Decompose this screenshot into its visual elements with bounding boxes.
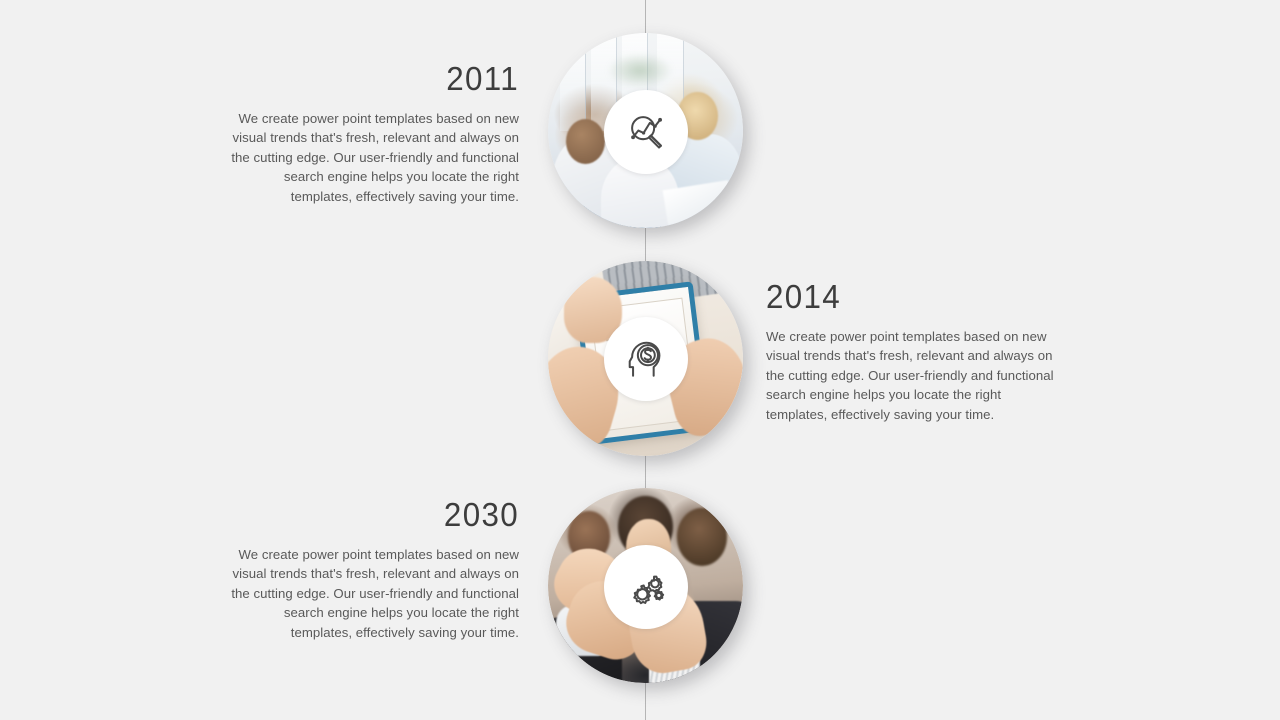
description-2011: We create power point templates based on… xyxy=(224,109,519,206)
gears-icon xyxy=(623,564,669,610)
magnifier-chart-icon xyxy=(623,109,669,155)
window-pane xyxy=(560,33,586,131)
head-money-idea-icon-badge[interactable] xyxy=(604,317,688,401)
window-greenery xyxy=(607,53,673,88)
person-left-head xyxy=(566,119,605,164)
timeline-slide: 2011 We create power point templates bas… xyxy=(0,0,1280,720)
description-2014: We create power point templates based on… xyxy=(766,327,1061,424)
year-label-2014: 2014 xyxy=(766,280,1046,313)
head-money-idea-icon xyxy=(623,336,669,382)
year-label-2030: 2030 xyxy=(239,498,519,531)
text-block-2014: 2014 We create power point templates bas… xyxy=(766,280,1061,424)
text-block-2011: 2011 We create power point templates bas… xyxy=(224,62,519,206)
text-block-2030: 2030 We create power point templates bas… xyxy=(224,498,519,642)
magnifier-chart-icon-badge[interactable] xyxy=(604,90,688,174)
year-label-2011: 2011 xyxy=(239,62,519,95)
audience-head xyxy=(677,508,728,567)
gears-icon-badge[interactable] xyxy=(604,545,688,629)
description-2030: We create power point templates based on… xyxy=(224,545,519,642)
